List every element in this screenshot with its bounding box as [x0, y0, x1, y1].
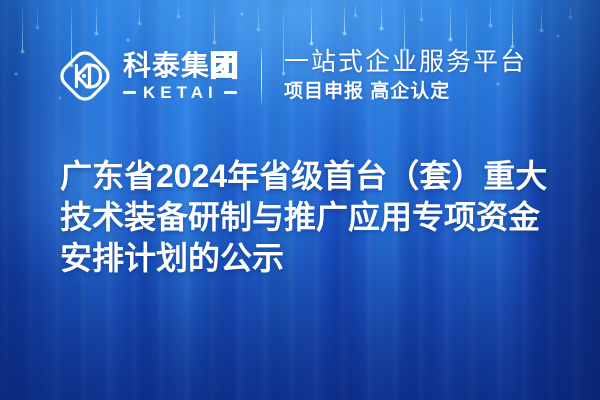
brand-name-cn-solid: 科泰集 [123, 50, 210, 81]
promo-banner: 科泰集团 KETAI 一站式企业服务平台 项目申报 高企认定 广东省2024年省… [0, 0, 600, 400]
ketai-diamond-kd-monogram-icon [58, 49, 112, 103]
brand-logo[interactable]: 科泰集团 KETAI [58, 49, 239, 103]
banner-header: 科泰集团 KETAI 一站式企业服务平台 项目申报 高企认定 [0, 38, 600, 114]
brand-name-en-row: KETAI [123, 84, 239, 101]
brand-wordmark: 科泰集团 KETAI [123, 51, 239, 100]
dash-icon [224, 91, 237, 94]
brand-name-en: KETAI [143, 84, 218, 101]
dash-icon [123, 91, 136, 94]
brand-name-cn: 科泰集团 [123, 51, 239, 80]
tagline-block: 一站式企业服务平台 项目申报 高企认定 [284, 48, 527, 104]
tagline-main: 一站式企业服务平台 [284, 48, 527, 78]
vertical-divider-icon [261, 47, 262, 105]
page-title: 广东省2024年省级首台（套）重大技术装备研制与推广应用专项资金安排计划的公示 [60, 156, 550, 279]
brand-name-cn-hollow: 团 [210, 50, 239, 81]
tagline-sub: 项目申报 高企认定 [284, 81, 527, 104]
